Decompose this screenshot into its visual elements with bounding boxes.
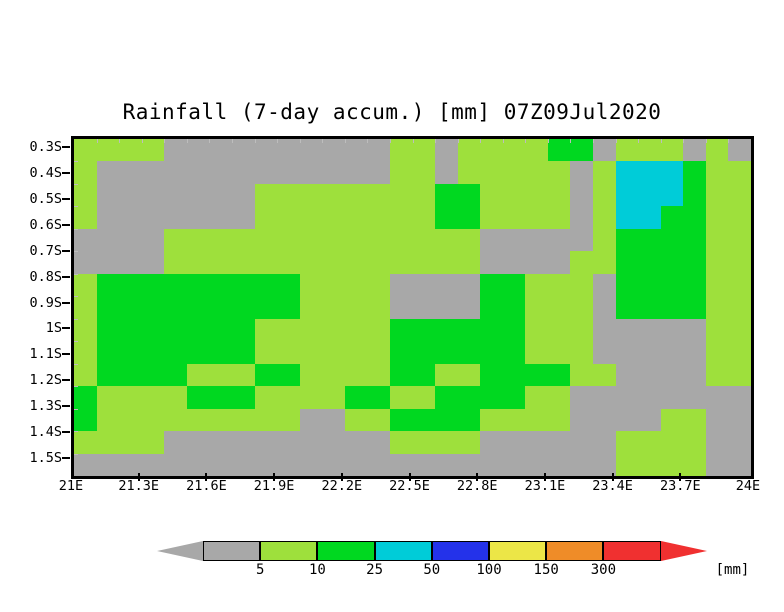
heatmap-cell: [74, 139, 165, 161]
heatmap-cell: [570, 251, 616, 273]
x-tick-label: 21E: [59, 478, 83, 494]
heatmap-cell: [593, 206, 616, 228]
colorbar-unit-label: [mm]: [716, 562, 750, 578]
heatmap-cell: [480, 296, 526, 318]
colorbar-tick-label: 150: [534, 562, 559, 578]
heatmap-cell: [97, 206, 256, 228]
heatmap-row: [74, 139, 751, 161]
heatmap-cell: [593, 184, 616, 206]
heatmap-cell: [570, 206, 593, 228]
heatmap-cell: [458, 161, 571, 183]
heatmap-cell: [74, 206, 97, 228]
heatmap-cell: [390, 319, 526, 341]
heatmap-row: [74, 274, 751, 296]
heatmap-cell: [570, 386, 751, 408]
heatmap-cell: [616, 296, 707, 318]
heatmap-cell: [300, 296, 391, 318]
heatmap-cell: [255, 386, 346, 408]
heatmap-cell: [616, 139, 684, 161]
heatmap-cell: [97, 161, 391, 183]
heatmap-cell: [480, 206, 571, 228]
heatmap-cell: [480, 229, 593, 251]
heatmap-cell: [435, 364, 481, 386]
heatmap-cell: [74, 229, 165, 251]
heatmap-cell: [255, 319, 391, 341]
heatmap-cell: [525, 274, 593, 296]
rainfall-heatmap[interactable]: [74, 139, 751, 476]
x-tick-label: 22.8E: [457, 478, 498, 494]
heatmap-cell: [435, 161, 458, 183]
heatmap-cell: [390, 296, 481, 318]
heatmap-cell: [548, 139, 594, 161]
heatmap-cell: [255, 184, 436, 206]
colorbar-segment[interactable]: [260, 541, 317, 561]
heatmap-cell: [187, 364, 255, 386]
colorbar-segment[interactable]: [546, 541, 603, 561]
page-title: Rainfall (7-day accum.) [mm] 07Z09Jul202…: [0, 100, 784, 124]
y-tick-mark: [62, 457, 70, 459]
heatmap-row: [74, 251, 751, 273]
y-tick-mark: [62, 302, 70, 304]
x-tick-label: 23.1E: [525, 478, 566, 494]
heatmap-cell: [74, 319, 97, 341]
y-tick-mark: [62, 146, 70, 148]
colorbar-segment[interactable]: [603, 541, 660, 561]
heatmap-cell: [300, 364, 391, 386]
heatmap-cell: [164, 139, 390, 161]
heatmap-cell: [570, 409, 661, 431]
heatmap-cell: [345, 409, 391, 431]
colorbar[interactable]: [mm] 5102550100150300: [150, 541, 650, 581]
x-tick-label: 21.6E: [186, 478, 227, 494]
heatmap-cell: [255, 364, 301, 386]
heatmap-cell: [593, 274, 616, 296]
heatmap-cell: [706, 161, 751, 183]
heatmap-cell: [390, 409, 481, 431]
heatmap-cell: [74, 431, 165, 453]
heatmap-cell: [683, 161, 706, 183]
heatmap-cell: [661, 409, 707, 431]
heatmap-row: [74, 386, 751, 408]
y-tick-mark: [62, 431, 70, 433]
heatmap-cell: [390, 341, 526, 363]
heatmap-cell: [525, 341, 593, 363]
x-axis-labels: 21E21.3E21.6E21.9E22.2E22.5E22.8E23.1E23…: [71, 478, 748, 500]
heatmap-cell: [74, 364, 97, 386]
heatmap-cell: [435, 139, 458, 161]
x-tick-label: 21.9E: [254, 478, 295, 494]
colorbar-tick-label: 50: [423, 562, 440, 578]
heatmap-cell: [480, 274, 526, 296]
heatmap-cell: [593, 341, 706, 363]
colorbar-segment[interactable]: [317, 541, 374, 561]
heatmap-cell: [390, 274, 481, 296]
colorbar-tick-label: 300: [591, 562, 616, 578]
heatmap-cell: [593, 319, 706, 341]
heatmap-cell: [435, 184, 481, 206]
heatmap-cell: [593, 139, 616, 161]
heatmap-cell: [570, 364, 616, 386]
heatmap-cell: [97, 386, 188, 408]
heatmap-cell: [97, 184, 256, 206]
heatmap-row: [74, 431, 751, 453]
heatmap-cell: [616, 431, 707, 453]
heatmap-cell: [706, 274, 751, 296]
heatmap-cell: [480, 364, 571, 386]
heatmap-cell: [683, 184, 706, 206]
heatmap-cell: [97, 296, 301, 318]
y-tick-mark: [62, 353, 70, 355]
heatmap-cell: [706, 409, 751, 431]
colorbar-tick-label: 10: [309, 562, 326, 578]
heatmap-cell: [74, 251, 165, 273]
heatmap-cell: [390, 161, 436, 183]
x-tick-label: 24E: [736, 478, 760, 494]
heatmap-cell: [616, 251, 707, 273]
heatmap-cell: [300, 409, 346, 431]
y-tick-mark: [62, 327, 70, 329]
x-tick-label: 21.3E: [118, 478, 159, 494]
heatmap-cell: [390, 386, 436, 408]
y-tick-mark: [62, 172, 70, 174]
heatmap-cell: [435, 386, 526, 408]
heatmap-cell: [525, 319, 593, 341]
heatmap-cell: [435, 206, 481, 228]
heatmap-cell: [593, 229, 616, 251]
colorbar-bar: [150, 541, 650, 561]
colorbar-under-arrow: [157, 541, 203, 561]
colorbar-tick-label: 5: [256, 562, 264, 578]
y-tick-mark: [62, 250, 70, 252]
heatmap-cell: [706, 251, 751, 273]
heatmap-cell: [706, 229, 751, 251]
figure-canvas: Rainfall (7-day accum.) [mm] 07Z09Jul202…: [0, 0, 784, 612]
heatmap-row: [74, 184, 751, 206]
heatmap-cell: [480, 251, 571, 273]
heatmap-cell: [706, 431, 751, 453]
heatmap-cell: [525, 386, 571, 408]
heatmap-cell: [255, 206, 436, 228]
heatmap-cell: [616, 229, 707, 251]
heatmap-cell: [187, 386, 255, 408]
heatmap-cell: [480, 184, 571, 206]
heatmap-cell: [164, 251, 481, 273]
heatmap-row: [74, 319, 751, 341]
heatmap-cell: [74, 274, 97, 296]
heatmap-cell: [390, 431, 481, 453]
heatmap-cell: [74, 409, 97, 431]
heatmap-cell: [74, 161, 97, 183]
heatmap-cell: [458, 139, 549, 161]
heatmap-cell: [97, 274, 301, 296]
heatmap-cell: [661, 206, 707, 228]
y-axis-tick-marks: [0, 136, 71, 473]
heatmap-cell: [480, 409, 571, 431]
x-tick-label: 23.7E: [660, 478, 701, 494]
heatmap-cell: [706, 364, 751, 386]
heatmap-row: [74, 409, 751, 431]
heatmap-row: [74, 296, 751, 318]
x-tick-label: 22.5E: [389, 478, 430, 494]
heatmap-row: [74, 206, 751, 228]
heatmap-cell: [74, 296, 97, 318]
heatmap-cell: [616, 206, 662, 228]
y-tick-mark: [62, 198, 70, 200]
y-tick-mark: [62, 405, 70, 407]
colorbar-tick-label: 25: [366, 562, 383, 578]
heatmap-cell: [706, 139, 729, 161]
y-tick-mark: [62, 379, 70, 381]
heatmap-cell: [345, 386, 391, 408]
heatmap-cell: [480, 431, 616, 453]
heatmap-cell: [97, 341, 256, 363]
heatmap-row: [74, 161, 751, 183]
heatmap-cell: [570, 184, 593, 206]
y-tick-mark: [62, 276, 70, 278]
heatmap-cell: [390, 364, 436, 386]
heatmap-cell: [97, 364, 188, 386]
colorbar-segment[interactable]: [375, 541, 432, 561]
heatmap-row: [74, 229, 751, 251]
x-tick-label: 23.4E: [592, 478, 633, 494]
heatmap-row: [74, 364, 751, 386]
heatmap-cell: [255, 341, 391, 363]
heatmap-cell: [97, 319, 256, 341]
heatmap-cell: [728, 139, 751, 161]
heatmap-cell: [706, 206, 751, 228]
x-tick-label: 22.2E: [321, 478, 362, 494]
heatmap-cell: [570, 161, 593, 183]
heatmap-cell: [616, 161, 684, 183]
heatmap-cell: [616, 184, 684, 206]
heatmap-cell: [616, 274, 707, 296]
y-tick-mark: [62, 224, 70, 226]
heatmap-cell: [74, 341, 97, 363]
colorbar-segment[interactable]: [432, 541, 489, 561]
colorbar-over-arrow: [661, 541, 707, 561]
heatmap-cell: [74, 386, 97, 408]
plot-frame: [71, 136, 754, 479]
heatmap-cell: [616, 364, 707, 386]
heatmap-cell: [706, 184, 751, 206]
heatmap-cell: [683, 139, 706, 161]
heatmap-cell: [164, 431, 390, 453]
heatmap-cell: [525, 296, 593, 318]
heatmap-cell: [593, 161, 616, 183]
heatmap-cell: [706, 296, 751, 318]
heatmap-cell: [706, 341, 751, 363]
heatmap-cell: [74, 184, 97, 206]
heatmap-cell: [706, 319, 751, 341]
colorbar-segment[interactable]: [203, 541, 260, 561]
heatmap-cell: [164, 229, 481, 251]
heatmap-cell: [300, 274, 391, 296]
colorbar-tick-label: 100: [476, 562, 501, 578]
heatmap-cell: [390, 139, 436, 161]
heatmap-cell: [593, 296, 616, 318]
heatmap-cell: [97, 409, 301, 431]
heatmap-row: [74, 341, 751, 363]
colorbar-segment[interactable]: [489, 541, 546, 561]
